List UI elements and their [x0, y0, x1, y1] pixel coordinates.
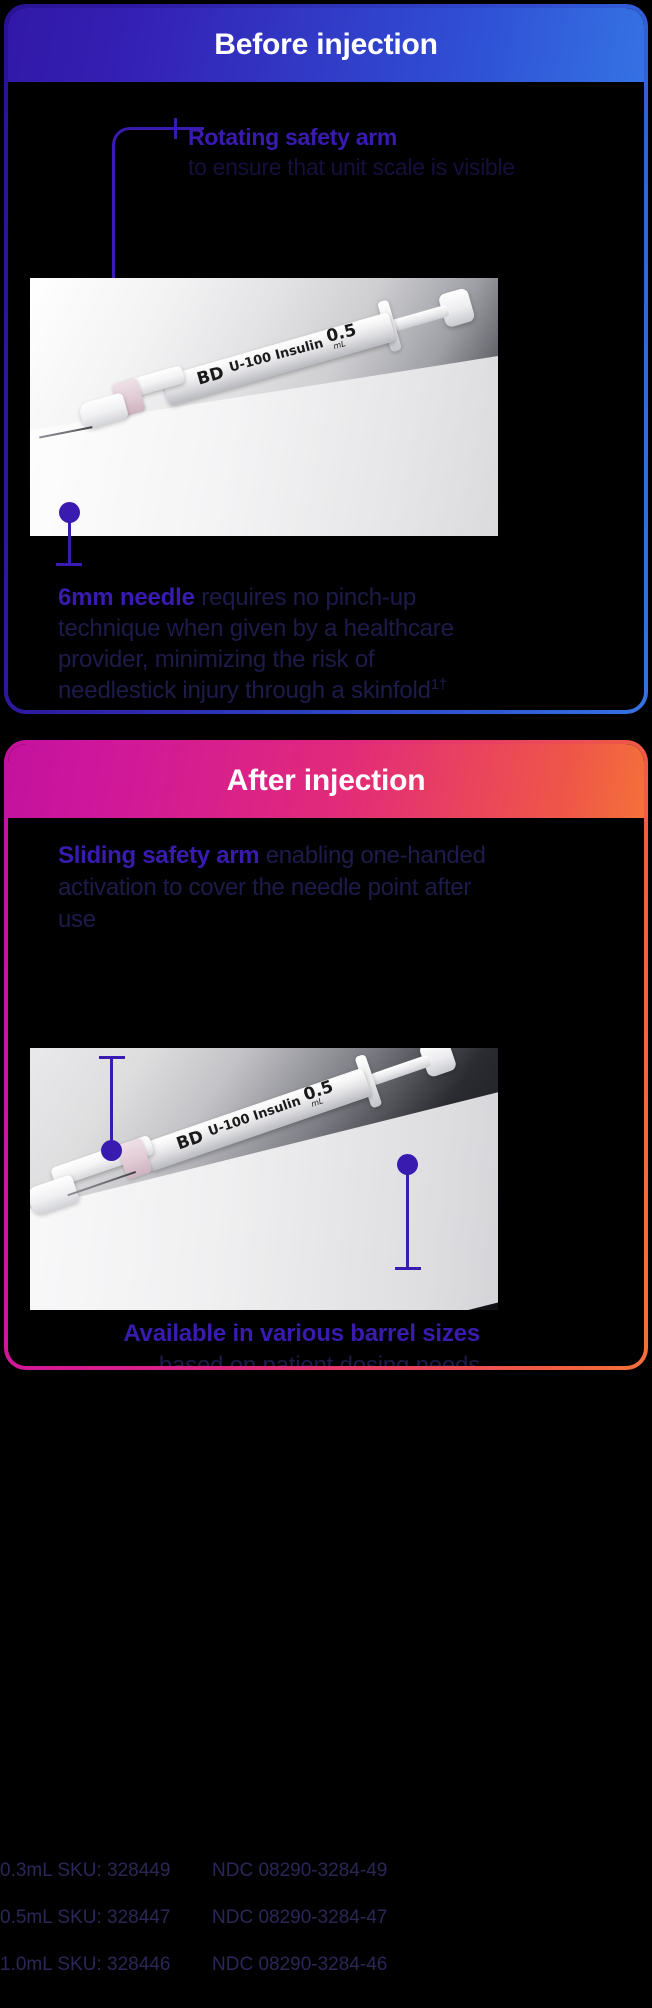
sku-ndc-2: NDC 08290-3284-46 [212, 1954, 472, 1976]
leader-stem-needle [68, 516, 71, 566]
banner-title-before: Before injection [214, 28, 438, 62]
leader-tick-needle [56, 563, 82, 566]
sku-size-1: 0.5mL SKU: 328447 [0, 1907, 212, 1929]
tip-cap-before [78, 392, 129, 430]
annotation-accent-sliding-arm: Sliding safety arm [58, 842, 259, 869]
banner-after-injection: After injection [8, 744, 644, 818]
paragraph-6mm-needle: 6mm needle requires no pinch-up techniqu… [58, 582, 488, 706]
annotation-subtitle-rotating-arm: to ensure that unit scale is visible [188, 152, 518, 183]
paragraph-accent-barrel-sizes: Available in various barrel sizes [20, 1318, 480, 1350]
card-before-inner: Before injection Rotating safety arm to … [8, 8, 644, 710]
card-before-injection: Before injection Rotating safety arm to … [4, 4, 648, 714]
paragraph-accent-6mm-needle: 6mm needle [58, 584, 195, 611]
paragraph-barrel-sizes: Available in various barrel sizes based … [20, 1318, 480, 1366]
product-image-after: 0.5 mL U-100 Insulin BD [30, 1048, 498, 1310]
annotation-sliding-safety-arm: Sliding safety arm enabling one-handed a… [58, 840, 488, 936]
sku-size-0: 0.3mL SKU: 328449 [0, 1860, 212, 1882]
paragraph-body-barrel-sizes: based on patient dosing needs [20, 1350, 480, 1366]
plunger-rod-before [391, 304, 450, 332]
table-row: 0.5mL SKU: 328447 NDC 08290-3284-47 [0, 1907, 652, 1929]
table-row: 0.3mL SKU: 328449 NDC 08290-3284-49 [0, 1860, 652, 1882]
leader-dot-sliding-arm [101, 1140, 122, 1161]
sku-ndc-0: NDC 08290-3284-49 [212, 1860, 472, 1882]
annotation-title-rotating-arm: Rotating safety arm [188, 122, 518, 152]
paragraph-footnote-marks-before: 1† [431, 677, 447, 693]
card-after-body: Sliding safety arm enabling one-handed a… [8, 818, 644, 1366]
sku-size-2: 1.0mL SKU: 328446 [0, 1954, 212, 1976]
sku-ndc-table: 0.3mL SKU: 328449 NDC 08290-3284-49 0.5m… [0, 1860, 652, 2001]
table-row: 1.0mL SKU: 328446 NDC 08290-3284-46 [0, 1954, 652, 1976]
annotation-rotating-safety-arm: Rotating safety arm to ensure that unit … [188, 122, 518, 183]
card-after-injection: After injection Sliding safety arm enabl… [4, 740, 648, 1370]
product-image-before: 0.5 mL U-100 Insulin BD [30, 278, 498, 536]
leader-stem-barrel-sizes [406, 1168, 409, 1270]
leader-tick-barrel-sizes [395, 1267, 421, 1270]
plunger-rod-after [371, 1055, 432, 1086]
sku-ndc-1: NDC 08290-3284-47 [212, 1907, 472, 1929]
banner-title-after: After injection [227, 764, 426, 798]
leader-stem-sliding-arm [110, 1056, 113, 1146]
card-after-inner: After injection Sliding safety arm enabl… [8, 744, 644, 1366]
safety-arm-tip-after [30, 1174, 80, 1216]
banner-before-injection: Before injection [8, 8, 644, 82]
card-before-body: Rotating safety arm to ensure that unit … [8, 82, 644, 710]
